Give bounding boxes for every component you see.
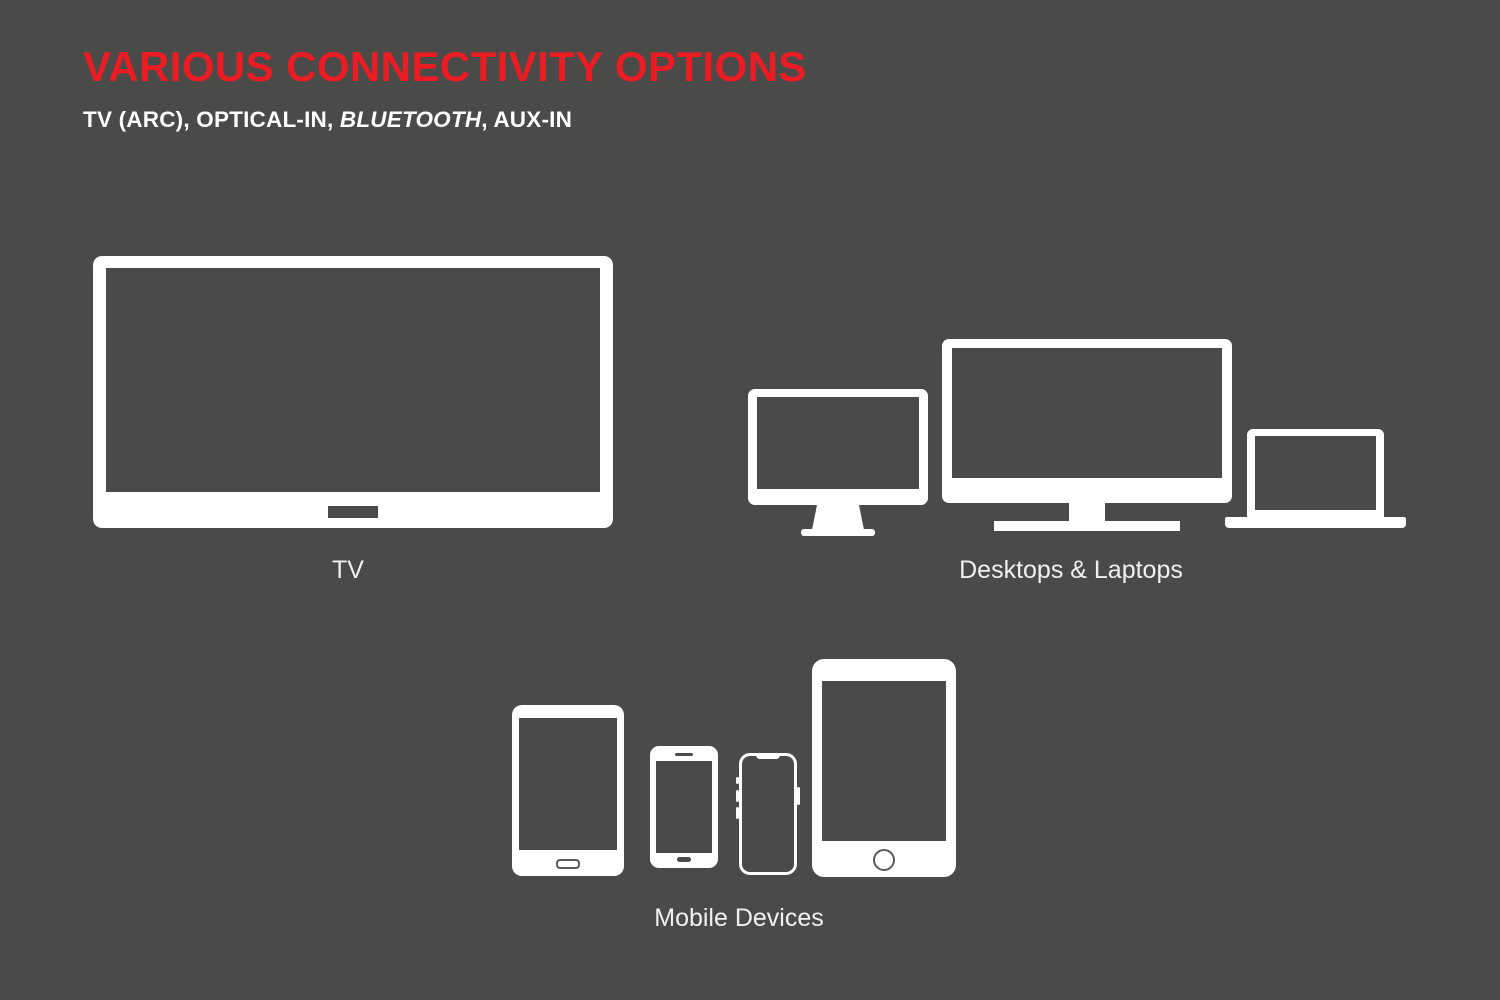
subtitle-emphasis: BLUETOOTH (340, 107, 481, 132)
small-tablet-home-button (556, 859, 580, 869)
phone-screen (656, 761, 712, 853)
notched-phone-body (739, 753, 797, 875)
caption-mobile-devices: Mobile Devices (654, 904, 824, 933)
caption-desktops-laptops: Desktops & Laptops (959, 556, 1183, 585)
caption-tv: TV (332, 556, 364, 585)
small-monitor-screen (757, 397, 919, 489)
large-tablet-screen (822, 681, 946, 841)
laptop-base (1225, 517, 1406, 528)
laptop-screen (1255, 436, 1376, 510)
page-subtitle: TV (ARC), OPTICAL-IN, BLUETOOTH, AUX-IN (83, 107, 807, 133)
notched-phone-volume-up-button (736, 790, 739, 802)
header: VARIOUS CONNECTIVITY OPTIONS TV (ARC), O… (83, 45, 807, 133)
smartphone-notch-icon (739, 753, 797, 875)
smartphone-icon (650, 746, 718, 868)
notched-phone-mute-switch (736, 777, 739, 784)
notched-phone-volume-down-button (736, 807, 739, 819)
tv-screen (106, 268, 600, 492)
notched-phone-notch (756, 753, 780, 759)
tv-icon (93, 256, 613, 528)
small-monitor-icon (748, 389, 928, 537)
large-tablet-icon (812, 659, 956, 877)
tv-sensor-bar (328, 506, 378, 518)
large-tablet-home-button (873, 849, 895, 871)
small-tablet-screen (519, 718, 617, 850)
subtitle-before: TV (ARC), OPTICAL-IN, (83, 107, 340, 132)
small-monitor-foot (801, 529, 875, 536)
phone-speaker (675, 753, 693, 756)
laptop-icon (1225, 429, 1406, 528)
subtitle-after: , AUX-IN (481, 107, 572, 132)
page-title: VARIOUS CONNECTIVITY OPTIONS (83, 45, 807, 89)
small-tablet-icon (512, 705, 624, 876)
notched-phone-power-button (797, 787, 800, 805)
large-monitor-base (994, 521, 1180, 531)
phone-home-button (677, 857, 691, 862)
slide-canvas: VARIOUS CONNECTIVITY OPTIONS TV (ARC), O… (0, 0, 1500, 1000)
large-monitor-screen (952, 348, 1222, 478)
tv-group (93, 256, 613, 528)
large-monitor-icon (942, 339, 1232, 531)
